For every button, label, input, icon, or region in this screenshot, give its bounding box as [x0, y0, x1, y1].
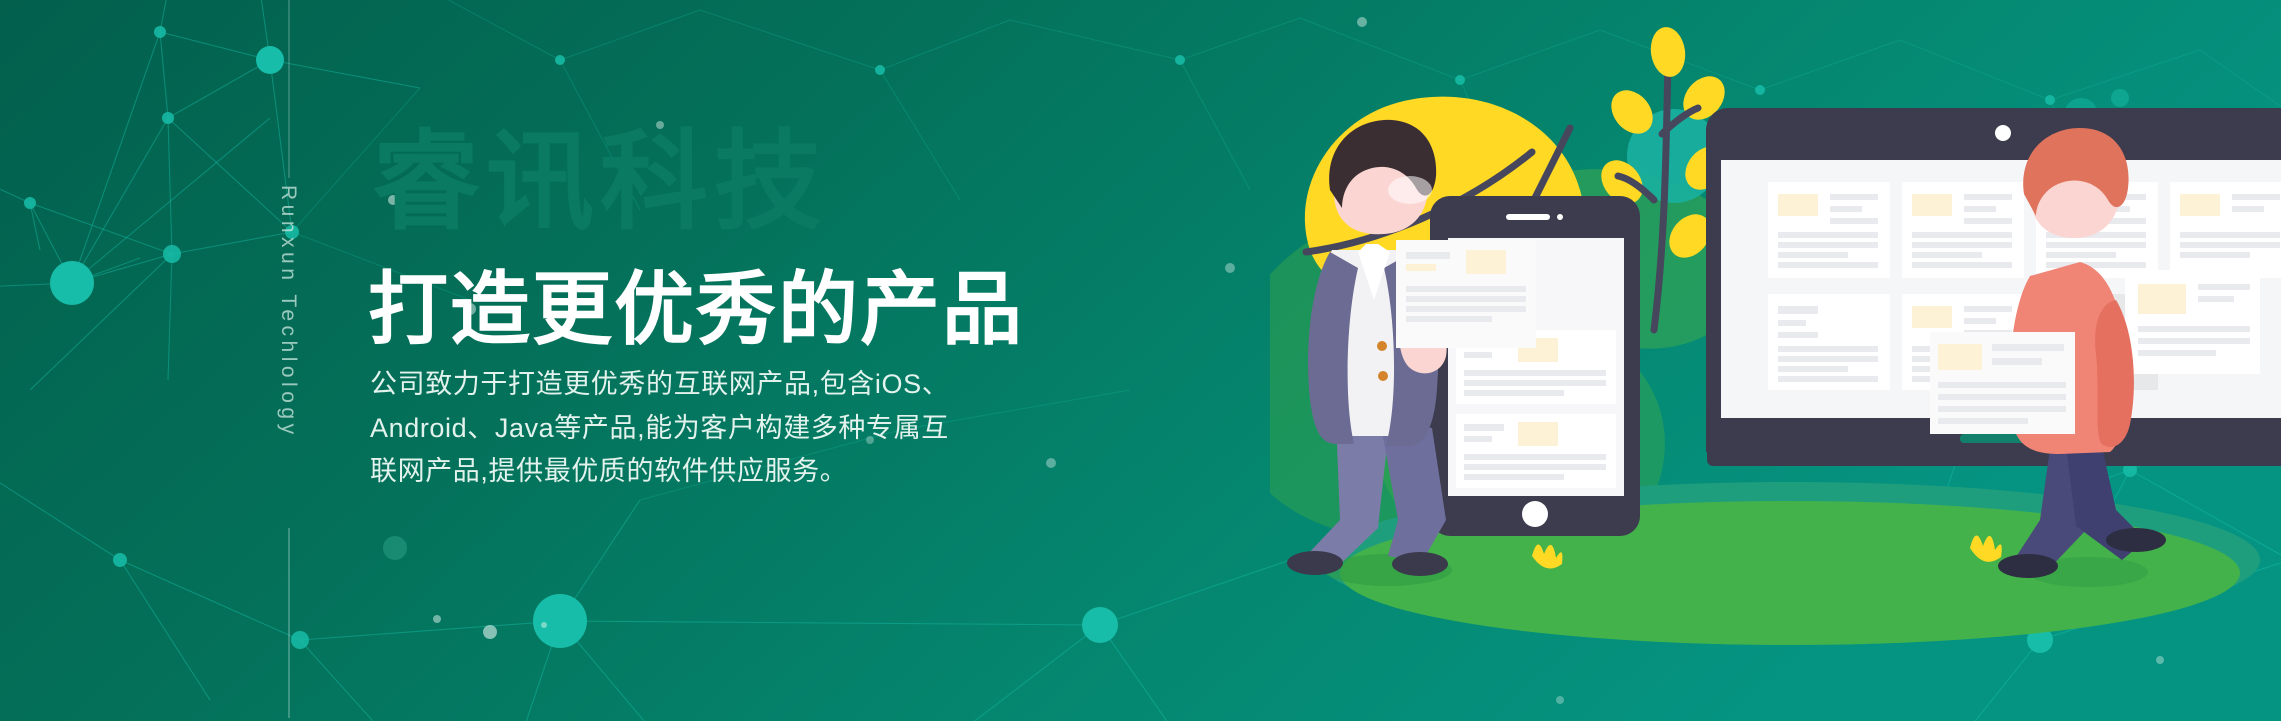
watermark-text: 睿讯科技	[372, 128, 828, 236]
content-card	[1456, 414, 1616, 488]
page-title: 打造更优秀的产品	[368, 266, 1024, 354]
body-line-1: 公司致力于打造更优秀的互联网产品,包含iOS、	[370, 369, 949, 399]
shoe-left	[1998, 554, 2058, 578]
shoe-right	[1392, 552, 1448, 576]
laptop-camera-dot	[1995, 125, 2011, 141]
body-line-2: Android、Java等产品,能为客户构建多种专属互	[370, 413, 949, 443]
content-card	[2170, 182, 2281, 278]
held-document-left	[1396, 240, 1536, 348]
vertical-rule-top	[288, 0, 290, 178]
content-card-floating	[2125, 270, 2260, 374]
tablet-sensor-dot	[1557, 214, 1563, 220]
shoe-right	[2106, 528, 2166, 552]
content-card	[1768, 182, 1890, 278]
vertical-brand-label: Runxun Techlology	[276, 185, 300, 439]
content-card	[1768, 294, 1890, 390]
shoe-left	[1287, 551, 1343, 575]
body-line-3: 联网产品,提供最优质的软件供应服务。	[370, 456, 847, 486]
content-card	[1902, 182, 2024, 278]
vertical-rule-bottom	[288, 528, 290, 718]
hero-banner: .ln{stroke:#17c2ab;stroke-width:1.1;opac…	[0, 0, 2281, 721]
body-paragraph: 公司致力于打造更优秀的互联网产品,包含iOS、 Android、Java等产品,…	[370, 363, 1170, 494]
tablet-speaker	[1506, 214, 1550, 220]
tablet-home-button	[1522, 501, 1548, 527]
hero-illustration: .dk{fill:#3c3c4e;} .yl{fill:#ffd923;} .s…	[1270, 0, 2281, 721]
vertical-brand: Runxun Techlology	[268, 185, 308, 515]
held-document-right	[1930, 332, 2075, 434]
text-block: Runxun Techlology 睿讯科技 打造更优秀的产品 公司致力于打造更…	[0, 0, 1200, 721]
